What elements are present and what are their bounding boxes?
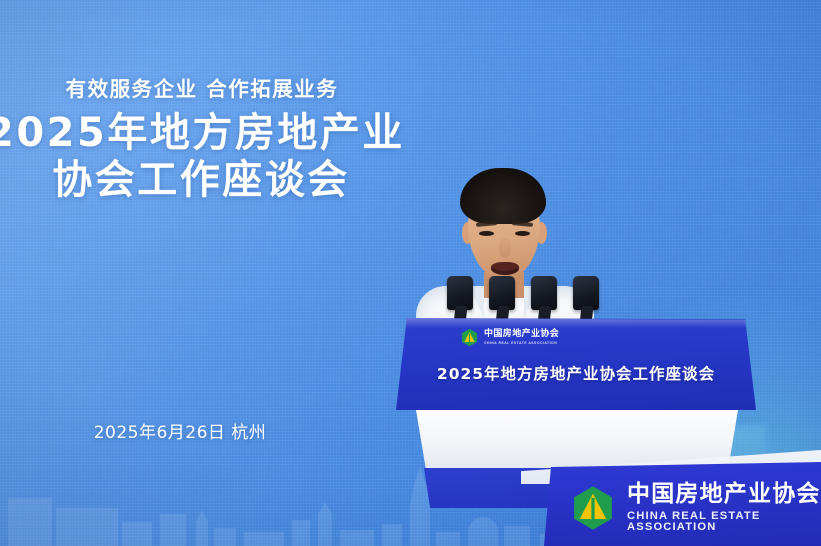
speaker-mouth xyxy=(491,262,519,275)
microphone-head-1 xyxy=(447,276,473,310)
event-title-line-2: 协会工作座谈会 xyxy=(2,159,400,202)
podium-front-panel: 中国房地产业协会 CHINA REAL ESTATE ASSOCIATION 2… xyxy=(396,318,756,410)
speaker-eye-left xyxy=(479,231,494,236)
association-hexagon-logo-icon xyxy=(460,328,479,347)
corner-banner-content: 中国房地产业协会 CHINA REAL ESTATE ASSOCIATION xyxy=(544,475,821,533)
backdrop-headline-block: 有效服务企业 合作拓展业务 2025年地方房地产业 协会工作座谈会 xyxy=(0,72,400,202)
speaker-eye-right xyxy=(515,231,530,236)
podium-logo-text: 中国房地产业协会 CHINA REAL ESTATE ASSOCIATION xyxy=(484,330,559,345)
podium-panel-highlight xyxy=(396,318,756,328)
event-date-location: 2025年6月26日 杭州 xyxy=(0,418,360,443)
corner-banner-name-en: CHINA REAL ESTATE ASSOCIATION xyxy=(627,511,821,533)
corner-banner-name-cn: 中国房地产业协会 xyxy=(627,483,821,506)
speaker-hair xyxy=(460,168,546,224)
event-slogan: 有效服务企业 合作拓展业务 xyxy=(4,72,400,102)
podium-logo-name-en: CHINA REAL ESTATE ASSOCIATION xyxy=(484,342,559,345)
microphone-head-2 xyxy=(489,276,515,310)
microphone-head-3 xyxy=(531,276,557,310)
microphone-head-4 xyxy=(573,276,599,310)
podium-logo-name-cn: 中国房地产业协会 xyxy=(484,330,559,339)
conference-photo: 有效服务企业 合作拓展业务 2025年地方房地产业 协会工作座谈会 2025年6… xyxy=(0,0,821,546)
podium-association-logo: 中国房地产业协会 CHINA REAL ESTATE ASSOCIATION xyxy=(460,328,559,347)
speaker-nose xyxy=(499,238,511,258)
corner-banner-text: 中国房地产业协会 CHINA REAL ESTATE ASSOCIATION xyxy=(627,483,821,533)
event-title-line-1: 2025年地方房地产业 xyxy=(0,112,400,155)
association-hexagon-logo-icon xyxy=(570,485,616,531)
podium-event-title: 2025年地方房地产业协会工作座谈会 xyxy=(396,362,756,384)
corner-association-banner: 中国房地产业协会 CHINA REAL ESTATE ASSOCIATION xyxy=(544,462,821,546)
